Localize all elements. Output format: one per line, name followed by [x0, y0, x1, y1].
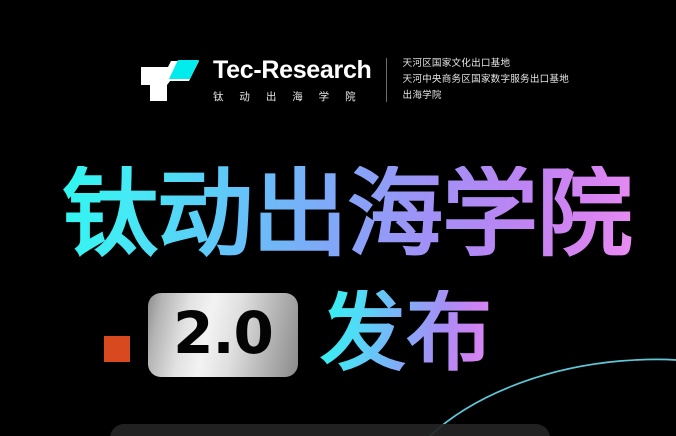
main-headline: 钛动出海学院: [62, 166, 632, 262]
credential-line: 天河区国家文化出口基地: [403, 57, 570, 71]
version-number: 2.0: [173, 304, 273, 362]
tec-research-logo-icon: [137, 57, 201, 103]
release-word: 发布: [320, 290, 492, 376]
bottom-plate: [110, 424, 550, 436]
version-badge: 2.0: [148, 293, 298, 377]
header-divider: [386, 58, 387, 102]
poster-canvas: Tec-Research 钛 动 出 海 学 院 天河区国家文化出口基地 天河中…: [0, 0, 676, 436]
credential-list: 天河区国家文化出口基地 天河中央商务区国家数字服务出口基地 出海学院: [403, 57, 570, 102]
credential-line: 天河中央商务区国家数字服务出口基地: [403, 73, 570, 87]
brand-name: Tec-Research: [213, 58, 372, 84]
credential-line: 出海学院: [403, 89, 570, 103]
release-row: 2.0 发布: [104, 292, 492, 378]
brand-header: Tec-Research 钛 动 出 海 学 院 天河区国家文化出口基地 天河中…: [137, 56, 569, 104]
orange-square-bullet: [104, 336, 130, 362]
brand-wordmark: Tec-Research 钛 动 出 海 学 院: [213, 56, 372, 104]
brand-name-cn: 钛 动 出 海 学 院: [213, 89, 372, 104]
